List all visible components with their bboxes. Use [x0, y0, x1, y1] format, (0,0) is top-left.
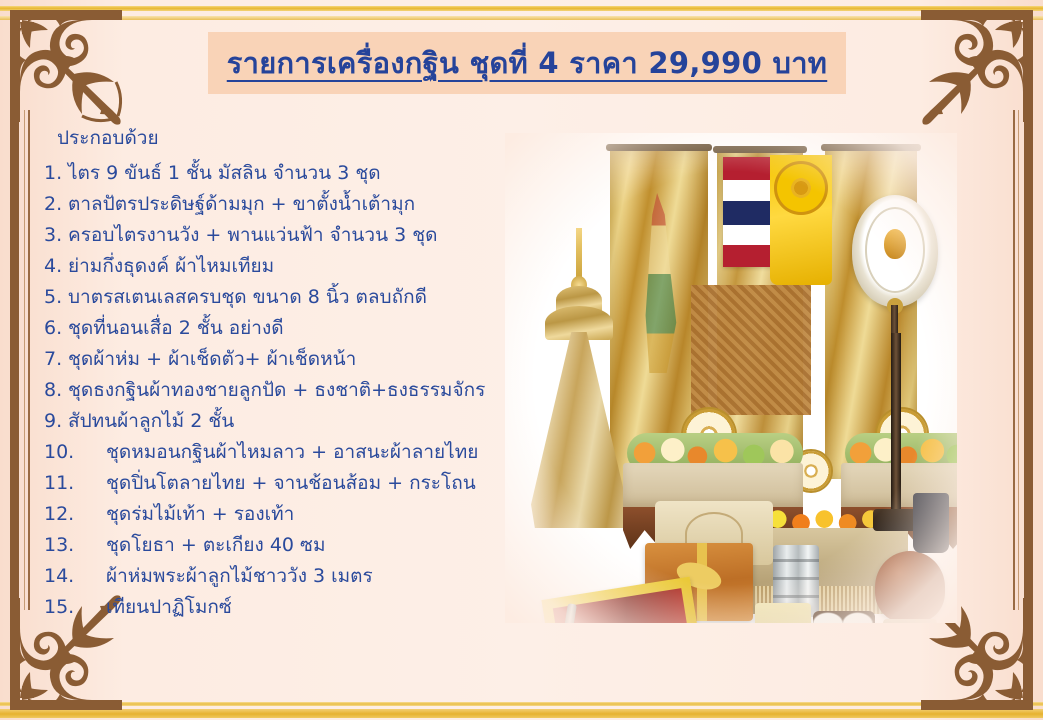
- right-rail-thick: [1024, 110, 1033, 610]
- list-item: 2. ตาลปัตรประดิษฐ์ด้ามมุก + ขาตั้งน้ำเต้…: [44, 189, 514, 220]
- top-gold-band-spacer: [0, 17, 1043, 20]
- spittoon-bowl-icon: [755, 603, 811, 623]
- list-item-number: 13.: [44, 530, 106, 561]
- intro-label: ประกอบด้วย: [57, 123, 159, 153]
- list-item: 5. บาตรสเตนเลสครบชุด ขนาด 8 นิ้ว ตลบถักด…: [44, 282, 514, 313]
- list-item-text: ชุดโยธา + ตะเกียง 40 ซม: [106, 530, 514, 561]
- list-item-text: ชุดที่นอนเสื่อ 2 ชั้น อย่างดี: [68, 313, 514, 344]
- list-item: 6. ชุดที่นอนเสื่อ 2 ชั้น อย่างดี: [44, 313, 514, 344]
- bottom-gold-band-outer: [0, 709, 1043, 718]
- poster-page: รายการเครื่องกฐิน ชุดที่ 4 ราคา 29,990 บ…: [0, 0, 1043, 720]
- right-rail-thin: [1013, 110, 1015, 610]
- list-item-number: 5.: [44, 282, 68, 313]
- lamp-pole-icon: [891, 333, 901, 513]
- ceremonial-fan-icon: [852, 195, 938, 307]
- list-item-number: 10.: [44, 437, 106, 468]
- lantern-icon: [913, 493, 949, 553]
- list-item: 13. ชุดโยธา + ตะเกียง 40 ซม: [44, 530, 514, 561]
- list-item-number: 1.: [44, 158, 68, 189]
- list-item-text: ชุดผ้าห่ม + ผ้าเช็ดตัว+ ผ้าเช็ดหน้า: [68, 344, 514, 375]
- list-item: 8. ชุดธงกฐินผ้าทองชายลูกปัด + ธงชาติ+ธงธ…: [44, 375, 514, 406]
- list-item-number: 14.: [44, 561, 106, 592]
- list-item-number: 11.: [44, 468, 106, 499]
- yellow-dharma-flag-icon: [770, 155, 832, 285]
- left-rail-thick: [10, 110, 19, 610]
- list-item-number: 6.: [44, 313, 68, 344]
- list-item: 12. ชุดร่มไม้เท้า + รองเท้า: [44, 499, 514, 530]
- list-item-text: ชุดหมอนกฐินผ้าไหมลาว + อาสนะผ้าลายไทย: [106, 437, 514, 468]
- top-gold-band-outer: [0, 6, 1043, 11]
- list-item-text: ชุดร่มไม้เท้า + รองเท้า: [106, 499, 514, 530]
- monk-sandals-icon: [813, 611, 875, 623]
- corner-ornament-top-left-icon: [0, 0, 132, 132]
- list-item-number: 12.: [44, 499, 106, 530]
- list-item-number: 7.: [44, 344, 68, 375]
- list-item-number: 8.: [44, 375, 68, 406]
- product-photo: [505, 133, 957, 623]
- list-item-text: ครอบไตรงานวัง + พานแว่นฟ้า จำนวน 3 ชุด: [68, 220, 514, 251]
- list-item-text: ผ้าห่มพระผ้าลูกไม้ชาววัง 3 เมตร: [106, 561, 514, 592]
- list-item-text: เทียนปาฏิโมกซ์: [106, 592, 514, 623]
- bottom-gold-band-inner: [0, 702, 1043, 706]
- list-item-number: 3.: [44, 220, 68, 251]
- list-item-text: ตาลปัตรประดิษฐ์ด้ามมุก + ขาตั้งน้ำเต้ามุ…: [68, 189, 514, 220]
- right-rail-hairline: [1018, 110, 1019, 610]
- list-item: 11. ชุดปิ่นโตลายไทย + จานช้อนส้อม + กระโ…: [44, 468, 514, 499]
- page-title: รายการเครื่องกฐิน ชุดที่ 4 ราคา 29,990 บ…: [208, 40, 846, 86]
- top-gold-band-inner: [0, 16, 1043, 20]
- list-item-text: ย่ามกึ่งธุดงค์ ผ้าไหมเทียม: [68, 251, 514, 282]
- list-item: 3. ครอบไตรงานวัง + พานแว่นฟ้า จำนวน 3 ชุ…: [44, 220, 514, 251]
- water-jar-base-icon: [883, 619, 937, 623]
- list-item: 4. ย่ามกึ่งธุดงค์ ผ้าไหมเทียม: [44, 251, 514, 282]
- list-item: 15. เทียนปาฏิโมกซ์: [44, 592, 514, 623]
- golden-umbrella-icon: [525, 228, 633, 528]
- list-item: 14. ผ้าห่มพระผ้าลูกไม้ชาววัง 3 เมตร: [44, 561, 514, 592]
- left-rail-hairline: [24, 110, 25, 610]
- list-item: 10. ชุดหมอนกฐินผ้าไหมลาว + อาสนะผ้าลายไท…: [44, 437, 514, 468]
- list-item-text: ชุดปิ่นโตลายไทย + จานช้อนส้อม + กระโถน: [106, 468, 514, 499]
- left-rail-thin: [28, 110, 30, 610]
- list-item-text: ไตร 9 ขันธ์ 1 ชั้น มัสลิน จำนวน 3 ชุด: [68, 158, 514, 189]
- list-item-number: 2.: [44, 189, 68, 220]
- corner-ornament-top-right-icon: [911, 0, 1043, 132]
- list-item-text: สัปทนผ้าลูกไม้ 2 ชั้น: [68, 406, 514, 437]
- list-item-number: 15.: [44, 592, 106, 623]
- water-jar-icon: [875, 551, 945, 623]
- list-item-text: บาตรสเตนเลสครบชุด ขนาด 8 นิ้ว ตลบถักดี: [68, 282, 514, 313]
- list-item: 9. สัปทนผ้าลูกไม้ 2 ชั้น: [44, 406, 514, 437]
- list-item: 1. ไตร 9 ขันธ์ 1 ชั้น มัสลิน จำนวน 3 ชุด: [44, 158, 514, 189]
- list-item: 7. ชุดผ้าห่ม + ผ้าเช็ดตัว+ ผ้าเช็ดหน้า: [44, 344, 514, 375]
- item-list: 1. ไตร 9 ขันธ์ 1 ชั้น มัสลิน จำนวน 3 ชุด…: [44, 158, 514, 623]
- list-item-number: 9.: [44, 406, 68, 437]
- list-item-text: ชุดธงกฐินผ้าทองชายลูกปัด + ธงชาติ+ธงธรรม…: [68, 375, 514, 406]
- brown-woven-cloth-icon: [691, 285, 811, 415]
- list-item-number: 4.: [44, 251, 68, 282]
